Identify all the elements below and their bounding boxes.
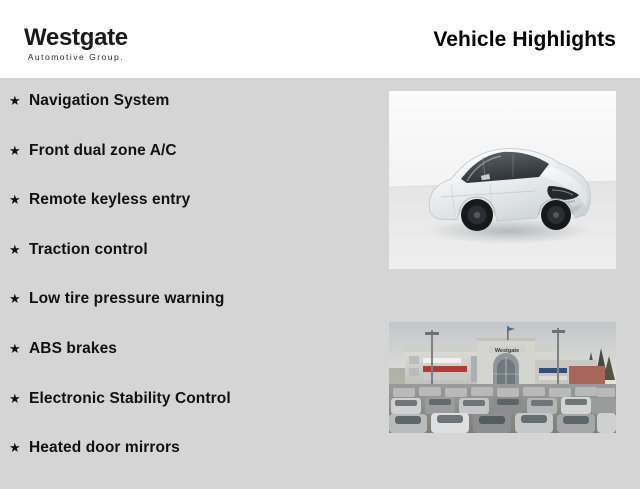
list-item: ★ Traction control — [0, 241, 372, 291]
slide-header: Westgate Automotive Group. Vehicle Highl… — [0, 0, 640, 78]
star-icon: ★ — [9, 193, 29, 206]
list-item: ★ Electronic Stability Control — [0, 390, 372, 440]
star-icon: ★ — [9, 342, 29, 355]
list-item-label: Heated door mirrors — [29, 439, 180, 457]
dealership-photo-graphic: Westgate — [389, 322, 616, 433]
logo-tagline-text: Automotive Group. — [24, 53, 128, 62]
westgate-logo: Westgate Automotive Group. — [24, 26, 128, 62]
list-item-label: Navigation System — [29, 92, 169, 110]
star-icon: ★ — [9, 144, 29, 157]
list-item: ★ Navigation System — [0, 92, 372, 142]
list-item-label: Traction control — [29, 241, 148, 259]
star-icon: ★ — [9, 441, 29, 454]
vehicle-photo-graphic — [389, 91, 616, 269]
list-item: ★ Low tire pressure warning — [0, 290, 372, 340]
list-item-label: ABS brakes — [29, 340, 117, 358]
list-item-label: Low tire pressure warning — [29, 290, 224, 308]
list-item: ★ Front dual zone A/C — [0, 142, 372, 192]
list-item-label: Remote keyless entry — [29, 191, 190, 209]
star-icon: ★ — [9, 243, 29, 256]
list-item-label: Electronic Stability Control — [29, 390, 231, 408]
vehicle-photo — [389, 91, 616, 269]
vehicle-highlights-list: ★ Navigation System ★ Front dual zone A/… — [0, 78, 372, 489]
list-item-label: Front dual zone A/C — [29, 142, 177, 160]
list-item: ★ Remote keyless entry — [0, 191, 372, 241]
list-item: ★ Heated door mirrors — [0, 439, 372, 489]
page-title: Vehicle Highlights — [433, 28, 616, 52]
dealership-photo: Westgate — [389, 322, 616, 433]
star-icon: ★ — [9, 292, 29, 305]
logo-brand-text: Westgate — [24, 26, 128, 50]
list-item: ★ ABS brakes — [0, 340, 372, 390]
slide-canvas: Westgate Automotive Group. Vehicle Highl… — [0, 0, 640, 480]
star-icon: ★ — [9, 392, 29, 405]
star-icon: ★ — [9, 94, 29, 107]
